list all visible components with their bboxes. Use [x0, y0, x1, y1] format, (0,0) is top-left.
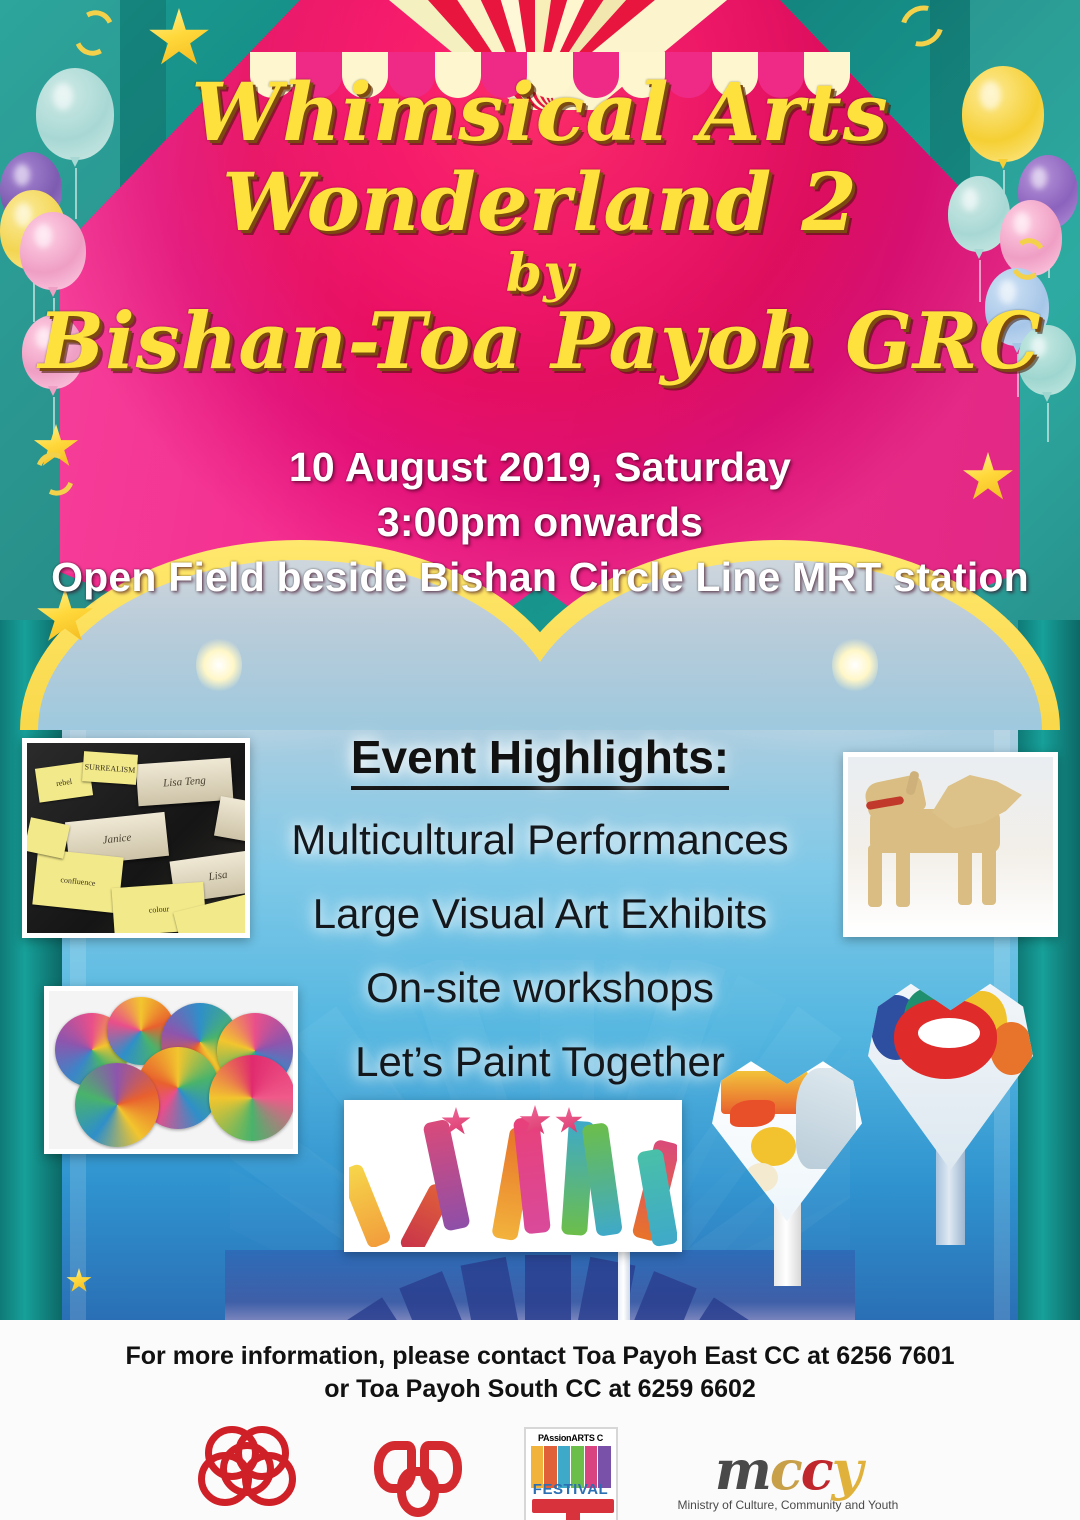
highlight-item: Multicultural Performances	[0, 816, 1080, 864]
passionarts-wordmark: PAssionARTS C	[526, 1429, 616, 1443]
event-date: 10 August 2019, Saturday	[0, 440, 1080, 495]
mccy-tagline: Ministry of Culture, Community and Youth	[678, 1498, 899, 1512]
contact-line-1: For more information, please contact Toa…	[0, 1340, 1080, 1373]
event-venue: Open Field beside Bishan Circle Line MRT…	[0, 550, 1080, 605]
highlights-heading: Event Highlights:	[351, 730, 729, 790]
contact-info: For more information, please contact Toa…	[0, 1320, 1080, 1406]
contact-line-2: or Toa Payoh South CC at 6259 6602	[0, 1373, 1080, 1406]
passionarts-icon: PAssionARTS C FESTIVAL 2019	[524, 1427, 618, 1520]
title-line-1: Whimsical Arts	[0, 72, 1080, 154]
logo-clover	[372, 1433, 464, 1520]
balloon-string	[1047, 403, 1049, 442]
event-highlights-block: Event Highlights: Multicultural Performa…	[0, 730, 1080, 1086]
footer: For more information, please contact Toa…	[0, 1320, 1080, 1520]
stage-lamp	[832, 636, 878, 694]
highlight-item: Large Visual Art Exhibits	[0, 890, 1080, 938]
event-time: 3:00pm onwards	[0, 495, 1080, 550]
pa-rings-icon	[195, 1422, 299, 1514]
event-poster: Whimsical Arts Wonderland 2 by Bishan-To…	[0, 0, 1080, 1520]
craft-stick	[349, 1163, 392, 1247]
title-block: Whimsical Arts Wonderland 2 by Bishan-To…	[0, 72, 1080, 382]
title-by: by	[0, 247, 1080, 300]
photo-craft-sticks	[344, 1100, 682, 1252]
highlight-item: On-site workshops	[0, 964, 1080, 1012]
sponsor-logos: People’s Association PAssionARTS C	[0, 1422, 1080, 1520]
mccy-wordmark: mccy	[715, 1445, 861, 1496]
passionarts-festival-text: FESTIVAL	[526, 1481, 616, 1498]
logo-peoples-association: People’s Association	[182, 1422, 312, 1520]
clover-icon	[372, 1433, 464, 1520]
heart-art-underwater	[712, 1058, 862, 1273]
title-line-2: Wonderland 2	[0, 162, 1080, 244]
stage-lamp	[196, 636, 242, 694]
event-details-block: 10 August 2019, Saturday 3:00pm onwards …	[0, 440, 1080, 605]
title-line-3: Bishan-Toa Payoh GRC	[0, 302, 1080, 382]
logo-passionarts-festival: PAssionARTS C FESTIVAL 2019	[524, 1427, 618, 1520]
logo-mccy: mccy Ministry of Culture, Community and …	[678, 1445, 899, 1512]
highlight-item: Let’s Paint Together	[0, 1038, 1080, 1086]
